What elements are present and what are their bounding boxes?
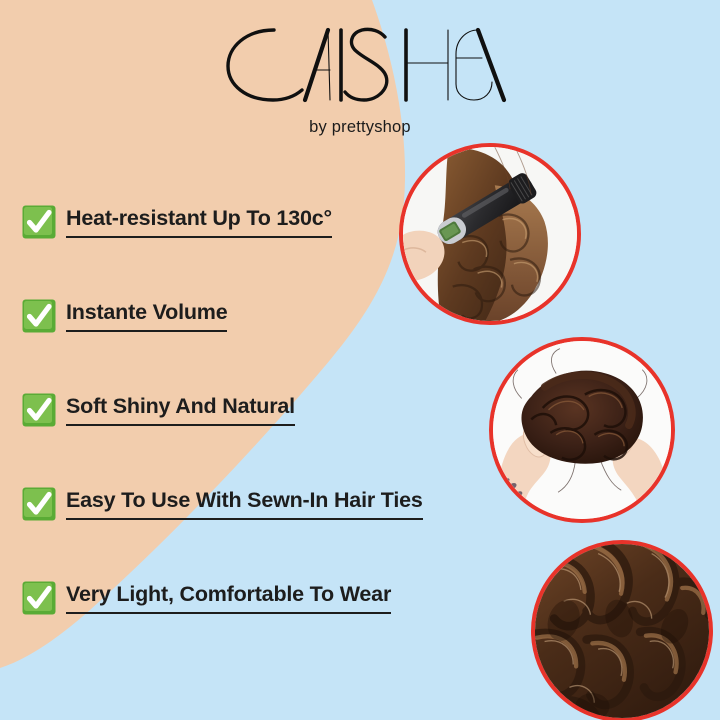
feature-label: Instante Volume [66,300,227,332]
feature-item: Very Light, Comfortable To Wear [22,581,391,615]
promo-graphic: by prettyshop Heat-resistant Up To 130c°… [0,0,720,720]
checkmark-icon [22,299,56,333]
feature-item: Instante Volume [22,299,227,333]
feature-item: Soft Shiny And Natural [22,393,295,427]
checkmark-icon [22,581,56,615]
feature-label: Heat-resistant Up To 130c° [66,206,332,238]
checkmark-icon [22,205,56,239]
feature-label: Easy To Use With Sewn-In Hair Ties [66,488,423,520]
feature-label: Very Light, Comfortable To Wear [66,582,391,614]
checkmark-icon [22,393,56,427]
brand-tagline: by prettyshop [0,118,720,137]
checkmark-icon [22,487,56,521]
photo-hands-holding-hairpiece [489,337,675,523]
feature-item: Easy To Use With Sewn-In Hair Ties [22,487,423,521]
feature-item: Heat-resistant Up To 130c° [22,205,332,239]
feature-list: Heat-resistant Up To 130c° Instante Volu… [22,205,492,615]
feature-label: Soft Shiny And Natural [66,394,295,426]
photo-curly-hair-closeup [531,540,713,720]
caisha-wordmark-icon [210,18,510,108]
brand-logo-block: by prettyshop [0,18,720,137]
